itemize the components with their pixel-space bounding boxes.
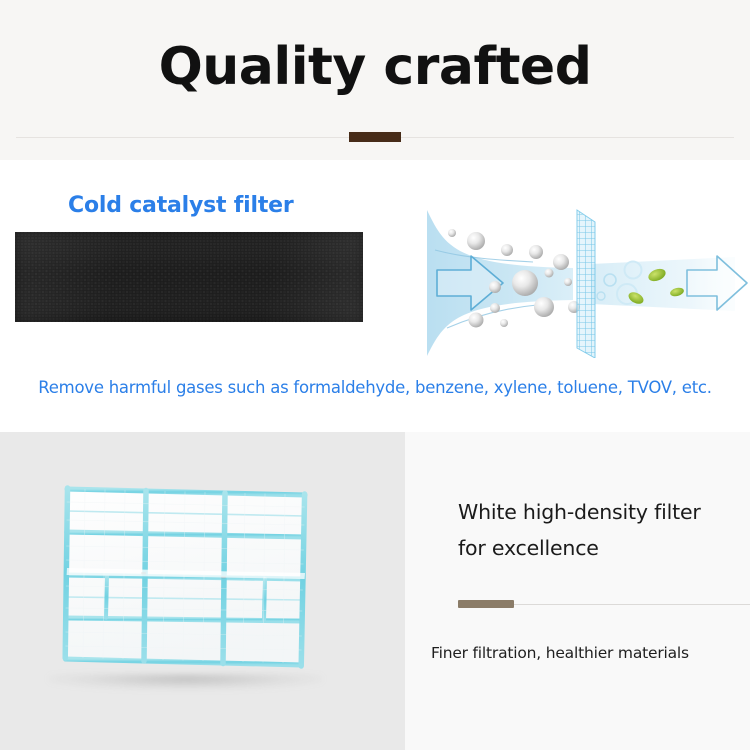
cold-catalyst-caption: Remove harmful gases such as formaldehyd… <box>0 378 750 397</box>
white-filter-copy-panel: White high-density filter for excellence… <box>405 432 750 750</box>
white-filter-product-image <box>55 480 317 673</box>
mesh-screen-icon <box>577 210 595 358</box>
cold-catalyst-title: Cold catalyst filter <box>68 193 294 218</box>
white-filter-subtitle: Finer filtration, healthier materials <box>431 644 750 662</box>
header-accent-bar <box>349 132 401 142</box>
carbon-filter-image <box>15 232 363 322</box>
white-filter-accent-bar <box>458 600 514 608</box>
white-filter-heading-line2: for excellence <box>458 530 738 566</box>
white-filter-heading: White high-density filter for excellence <box>458 494 738 566</box>
header-band: Quality crafted <box>0 0 750 160</box>
carbon-sheen-overlay <box>15 232 363 322</box>
filter-drop-shadow <box>48 674 323 690</box>
product-infographic: Quality crafted Cold catalyst filter <box>0 0 750 750</box>
airflow-diagram <box>405 208 750 358</box>
cold-catalyst-section: Cold catalyst filter <box>0 160 750 432</box>
white-filter-image-panel <box>0 432 405 750</box>
page-title: Quality crafted <box>0 36 750 98</box>
white-filter-heading-line1: White high-density filter <box>458 494 738 530</box>
